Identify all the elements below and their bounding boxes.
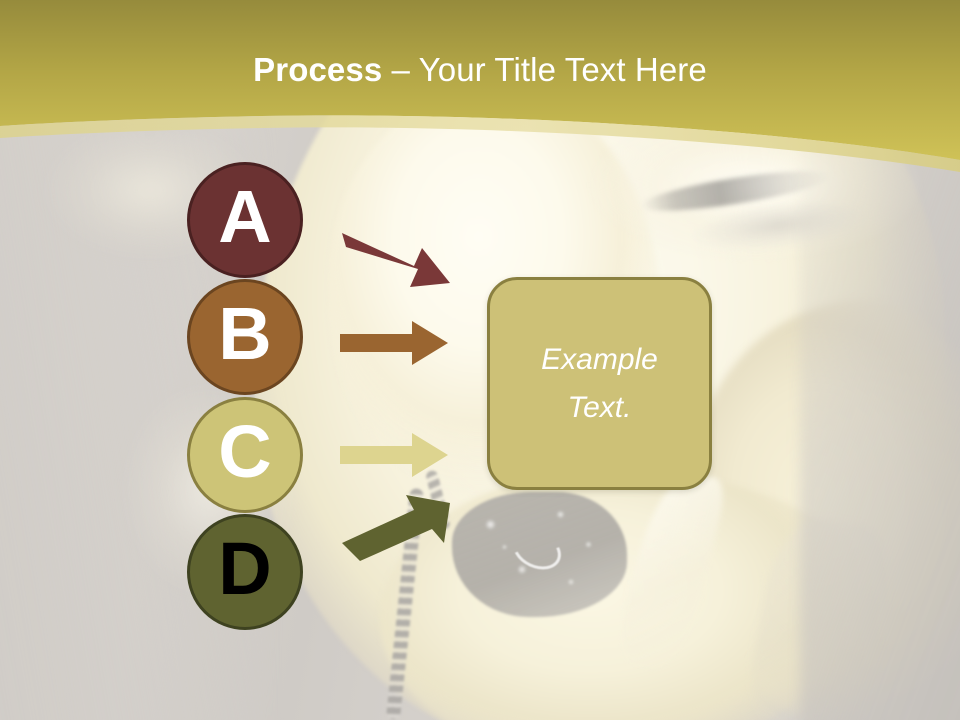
- arrow-step-d-shape: [342, 495, 450, 561]
- arrow-step-d: [340, 495, 455, 565]
- arrow-step-b-shape: [340, 321, 448, 365]
- step-circle-b[interactable]: B: [187, 279, 303, 395]
- arrow-step-c: [340, 432, 450, 478]
- slide-canvas: Process – Your Title Text Here A B C D E…: [0, 0, 960, 720]
- result-text-box[interactable]: Example Text.: [487, 277, 712, 490]
- step-circle-c-label: C: [218, 415, 271, 489]
- arrow-step-a: [340, 225, 455, 295]
- step-circle-d[interactable]: D: [187, 514, 303, 630]
- page-title-bold: Process: [253, 51, 382, 88]
- background-photo: [0, 0, 960, 720]
- step-circle-d-label: D: [218, 532, 271, 606]
- arrow-step-a-shape: [342, 233, 450, 287]
- photo-drape-right: [800, 120, 960, 720]
- result-text-line-1: Example: [541, 336, 658, 384]
- arrow-step-b: [340, 320, 450, 366]
- step-circle-a-label: A: [218, 180, 271, 254]
- page-title: Process – Your Title Text Here: [0, 50, 960, 90]
- result-text-line-2: Text.: [541, 384, 658, 432]
- arrow-step-c-shape: [340, 433, 448, 477]
- page-title-rest: – Your Title Text Here: [382, 51, 707, 88]
- step-circle-b-label: B: [218, 297, 271, 371]
- step-circle-c[interactable]: C: [187, 397, 303, 513]
- step-circle-a[interactable]: A: [187, 162, 303, 278]
- result-text-box-content: Example Text.: [541, 336, 658, 432]
